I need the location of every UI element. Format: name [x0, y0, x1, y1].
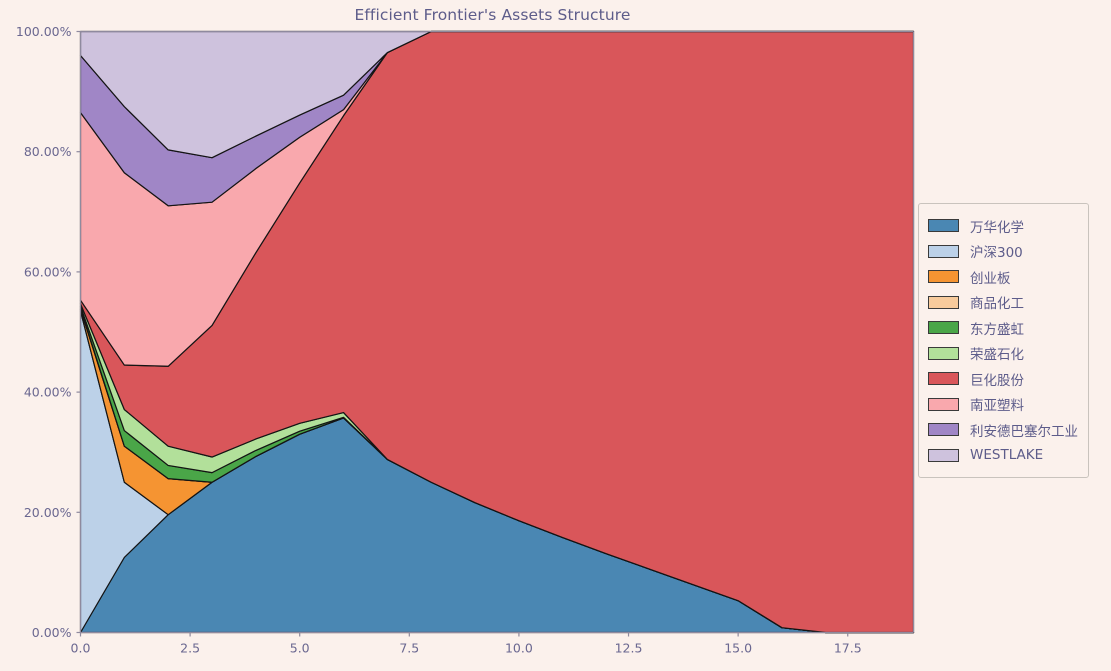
legend-swatch-icon	[928, 347, 959, 360]
legend-item-label: 商品化工	[970, 292, 1024, 312]
legend-item-label: 沪深300	[970, 241, 1023, 261]
legend-swatch-icon	[928, 270, 959, 283]
y-tick-label: 0.00%	[32, 625, 72, 640]
legend-swatch-icon	[928, 372, 959, 385]
y-tick-label: 100.00%	[16, 24, 72, 39]
legend-item-label: 创业板	[970, 267, 1011, 287]
legend-swatch-icon	[928, 219, 959, 232]
x-tick-label: 0.0	[71, 641, 91, 656]
legend-swatch-icon	[928, 245, 959, 258]
legend-item[interactable]: 商品化工	[928, 290, 1078, 316]
y-tick-label: 20.00%	[24, 505, 72, 520]
x-tick-label: 17.5	[834, 641, 862, 656]
x-tick-label: 15.0	[724, 641, 752, 656]
x-tick-label: 10.0	[505, 641, 533, 656]
legend-item-label: 利安德巴塞尔工业	[970, 420, 1078, 440]
legend-item-label: 东方盛虹	[970, 318, 1024, 338]
legend-swatch-icon	[928, 296, 959, 309]
x-tick-label: 7.5	[399, 641, 419, 656]
x-tick-label: 5.0	[290, 641, 310, 656]
legend-swatch-icon	[928, 321, 959, 334]
legend-item[interactable]: 荣盛石化	[928, 341, 1078, 367]
legend-item-label: 南亚塑料	[970, 394, 1024, 414]
chart-legend[interactable]: 万华化学沪深300创业板商品化工东方盛虹荣盛石化巨化股份南亚塑料利安德巴塞尔工业…	[918, 203, 1089, 478]
legend-item-label: 巨化股份	[970, 369, 1024, 389]
y-tick-label: 40.00%	[24, 385, 72, 400]
x-tick-label: 12.5	[615, 641, 643, 656]
legend-item[interactable]: 万华化学	[928, 213, 1078, 239]
legend-item[interactable]: WESTLAKE	[928, 443, 1078, 469]
legend-item[interactable]: 创业板	[928, 264, 1078, 290]
legend-item-label: WESTLAKE	[970, 447, 1043, 463]
x-tick-label: 2.5	[180, 641, 200, 656]
legend-item-label: 万华化学	[970, 216, 1024, 236]
legend-item[interactable]: 东方盛虹	[928, 315, 1078, 341]
legend-item[interactable]: 巨化股份	[928, 366, 1078, 392]
legend-item[interactable]: 沪深300	[928, 239, 1078, 265]
legend-item-label: 荣盛石化	[970, 343, 1024, 363]
legend-item[interactable]: 南亚塑料	[928, 392, 1078, 418]
legend-swatch-icon	[928, 423, 959, 436]
legend-swatch-icon	[928, 398, 959, 411]
y-tick-label: 60.00%	[24, 264, 72, 279]
area-series-group	[81, 32, 914, 633]
y-tick-label: 80.00%	[24, 144, 72, 159]
legend-swatch-icon	[928, 449, 959, 462]
legend-item[interactable]: 利安德巴塞尔工业	[928, 417, 1078, 443]
chart-figure: Efficient Frontier's Assets Structure 0.…	[0, 0, 1111, 671]
